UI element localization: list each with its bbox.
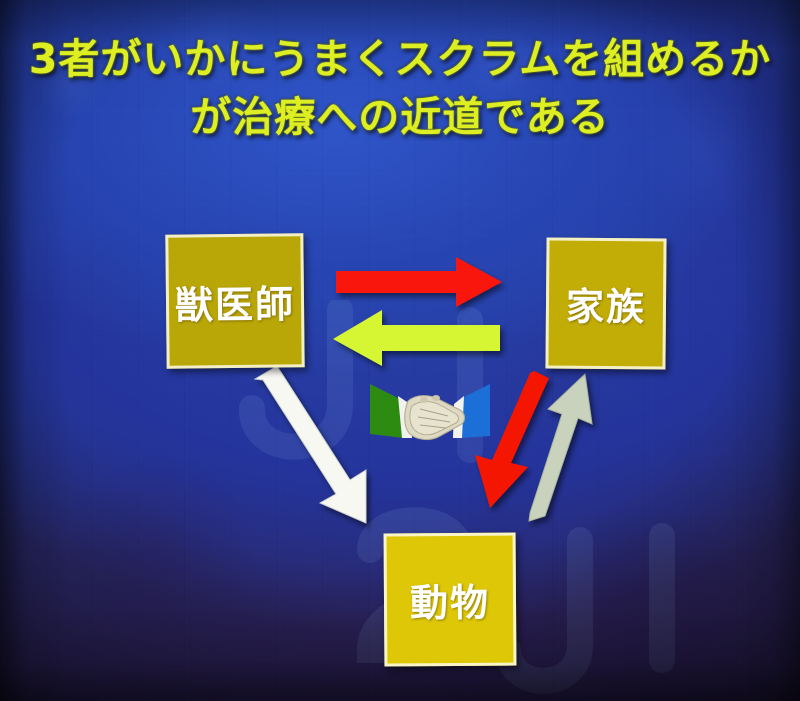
node-label-veterinarian: 獣医師 (175, 273, 296, 329)
handshake-right-sleeve (460, 384, 490, 438)
node-box-family[interactable]: 家族 (545, 237, 666, 369)
presentation-slide: 3者がいかにうまくスクラムを組めるか が治療への近道である (0, 0, 800, 701)
node-label-animal: 動物 (410, 572, 490, 628)
node-label-family: 家族 (566, 276, 646, 332)
slide-title: 3者がいかにうまくスクラムを組めるか が治療への近道である (0, 30, 800, 146)
handshake-icon (368, 376, 492, 450)
node-box-veterinarian[interactable]: 獣医師 (165, 233, 304, 368)
slide-title-line-2: が治療への近道である (0, 88, 800, 146)
node-box-animal[interactable]: 動物 (384, 533, 517, 667)
slide-title-line-1: 3者がいかにうまくスクラムを組めるか (0, 30, 800, 88)
handshake-left-sleeve (370, 384, 404, 438)
